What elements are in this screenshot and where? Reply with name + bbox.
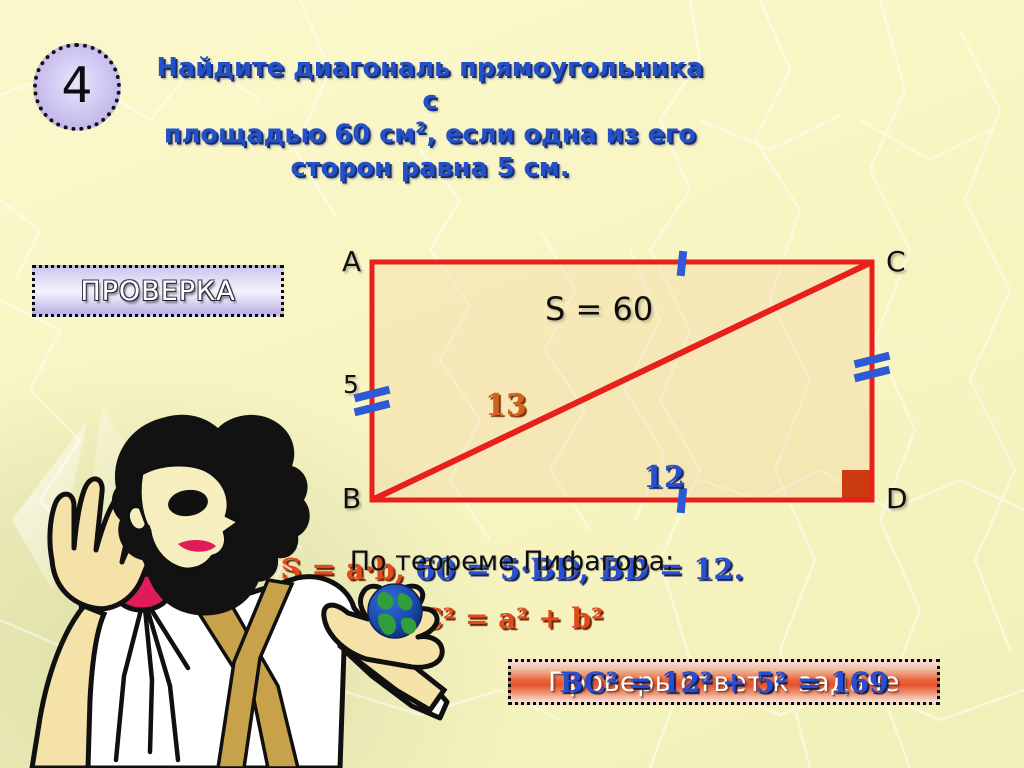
question-number: 4 [61,61,92,110]
proverka-button[interactable]: ПРОВЕРКА [32,265,284,317]
answer-blue-text: BC² = 12² + 5² = 169 [511,662,940,702]
page-title: Найдите диагональ прямоугольника с площа… [150,52,710,185]
title-line-3: сторон равна 5 см. [150,152,710,185]
side-length-label-left: 5 [343,370,359,399]
title-line-2-pre: площадью 60 см [164,120,415,150]
earth-globe-icon [368,584,422,638]
vertex-label-a: A [342,248,361,276]
pythagoras-illustration [0,400,462,768]
bottom-length-label: 12 [643,460,685,495]
proverka-button-label: ПРОВЕРКА [80,276,235,307]
slide-canvas: 4 Найдите диагональ прямоугольника с пло… [0,0,1024,768]
vertex-label-c: C [886,248,906,276]
area-formula-blue: 60 = 5·BD, BD = 12. [415,552,744,586]
title-line-2: площадью 60 см2, если одна из его [150,118,710,152]
title-line-2-post: , если одна из его [426,120,696,150]
title-line-1: Найдите диагональ прямоугольника с [150,52,710,118]
title-superscript: 2 [415,118,426,137]
question-number-badge: 4 [33,43,121,131]
answer-box[interactable]: Проверь ответ к задаче BC² = 12² + 5² = … [508,659,940,705]
vertex-label-d: D [886,485,908,513]
diagonal-length-label: 13 [485,388,527,423]
right-angle-marker-icon [842,470,872,500]
area-label: S = 60 [545,290,653,328]
